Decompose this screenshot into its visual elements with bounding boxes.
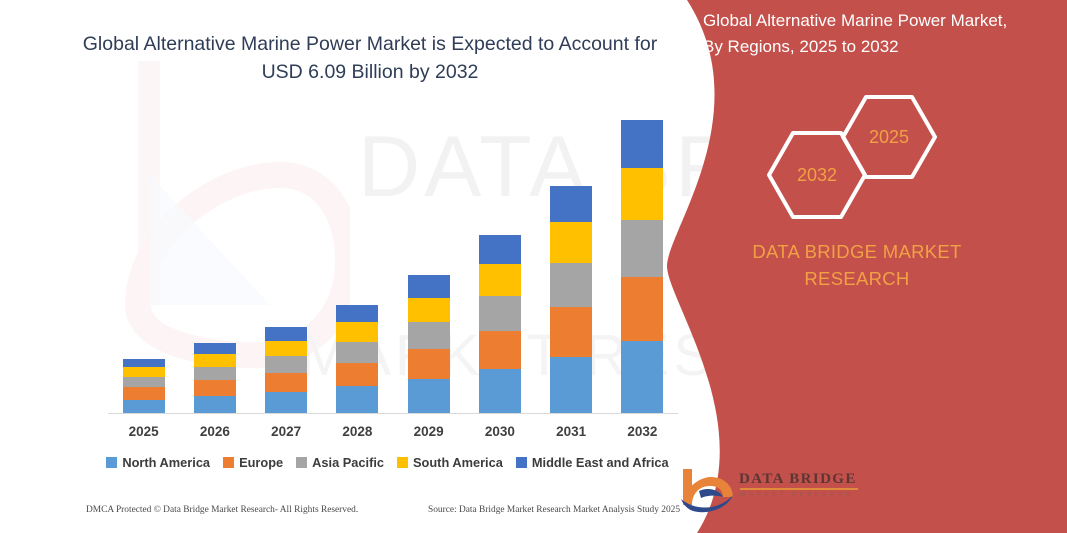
dbmr-logo: DATA BRIDGE MARKET RESEARCH (677, 465, 877, 517)
bar-segment (479, 235, 521, 263)
dbmr-logo-mark (677, 465, 737, 515)
dbmr-logo-divider (740, 488, 858, 490)
bar-stack (479, 235, 521, 414)
hexagon-label-2025: 2025 (869, 127, 909, 148)
chart-title: Global Alternative Marine Power Market i… (60, 30, 680, 86)
legend-swatch-icon (516, 457, 527, 468)
bar-segment (194, 354, 236, 367)
dbmr-logo-title: DATA BRIDGE (739, 471, 857, 488)
legend-swatch-icon (296, 457, 307, 468)
bar-stack (550, 186, 592, 414)
bar-segment (550, 222, 592, 263)
brand-panel: Global Alternative Marine Power Market, … (667, 0, 1067, 533)
footer-copyright: DMCA Protected © Data Bridge Market Rese… (86, 505, 358, 515)
bar-segment (621, 220, 663, 277)
legend-item[interactable]: Middle East and Africa (516, 455, 669, 470)
x-tick-2025: 2025 (114, 424, 174, 439)
bar-segment (265, 392, 307, 414)
bar-segment (265, 341, 307, 356)
legend-label: Asia Pacific (312, 455, 384, 470)
legend-label: Europe (239, 455, 283, 470)
bar-segment (621, 168, 663, 220)
brand-line-2: RESEARCH (804, 268, 909, 289)
bar-segment (336, 342, 378, 363)
bar-segment (479, 264, 521, 296)
legend-label: South America (413, 455, 503, 470)
x-tick-2030: 2030 (470, 424, 530, 439)
legend-label: North America (122, 455, 210, 470)
chart-legend: North AmericaEuropeAsia PacificSouth Ame… (100, 455, 675, 470)
bar-segment (194, 380, 236, 395)
bar-segment (123, 367, 165, 377)
legend-swatch-icon (397, 457, 408, 468)
bar-segment (265, 373, 307, 392)
bar-stack (265, 327, 307, 414)
dbmr-logo-subtitle: MARKET RESEARCH (740, 491, 854, 498)
panel-title: Global Alternative Marine Power Market, … (703, 8, 1013, 60)
x-axis-line (108, 413, 678, 414)
x-tick-2027: 2027 (256, 424, 316, 439)
hexagon-badge-2032: 2032 (765, 128, 869, 222)
bar-segment (479, 296, 521, 331)
hexagon-label-2032: 2032 (797, 165, 837, 186)
bar-segment (123, 377, 165, 388)
bar-segment (194, 396, 236, 414)
bar-segment (123, 359, 165, 368)
bar-stack (123, 359, 165, 414)
bar-segment (336, 305, 378, 322)
bar-stack (194, 343, 236, 414)
bar-segment (408, 379, 450, 414)
bar-segment (408, 349, 450, 379)
bar-segment (621, 277, 663, 340)
legend-label: Middle East and Africa (532, 455, 669, 470)
bar-segment (265, 356, 307, 373)
x-tick-2029: 2029 (399, 424, 459, 439)
legend-item[interactable]: Europe (223, 455, 283, 470)
footer-source: Source: Data Bridge Market Research Mark… (428, 505, 680, 515)
brand-name: DATA BRIDGE MARKET RESEARCH (707, 238, 1007, 292)
bar-stack (336, 305, 378, 414)
bar-segment (550, 263, 592, 307)
bar-stack (408, 275, 450, 414)
bar-segment (550, 357, 592, 414)
bar-segment (621, 120, 663, 168)
bar-segment (550, 186, 592, 223)
bar-segment (123, 387, 165, 399)
x-tick-2032: 2032 (612, 424, 672, 439)
chart-panel: DATA BRIDGE MARKET RESEARCH Global Alter… (0, 0, 760, 533)
bar-segment (479, 369, 521, 414)
bar-segment (336, 322, 378, 341)
x-tick-2031: 2031 (541, 424, 601, 439)
bar-segment (265, 327, 307, 341)
legend-swatch-icon (223, 457, 234, 468)
x-tick-2028: 2028 (327, 424, 387, 439)
bar-segment (123, 400, 165, 414)
bar-segment (408, 275, 450, 297)
bar-chart-plot (108, 120, 678, 414)
legend-item[interactable]: North America (106, 455, 210, 470)
x-tick-2026: 2026 (185, 424, 245, 439)
legend-swatch-icon (106, 457, 117, 468)
bar-segment (194, 367, 236, 381)
brand-line-1: DATA BRIDGE MARKET (752, 241, 961, 262)
bar-segment (336, 386, 378, 414)
bar-segment (408, 322, 450, 349)
bar-segment (550, 307, 592, 356)
bar-segment (336, 363, 378, 387)
legend-item[interactable]: South America (397, 455, 503, 470)
x-axis-labels: 20252026202720282029203020312032 (108, 424, 678, 446)
legend-item[interactable]: Asia Pacific (296, 455, 384, 470)
bar-segment (408, 298, 450, 323)
bar-stack (621, 120, 663, 414)
bar-segment (194, 343, 236, 354)
bar-segment (479, 331, 521, 370)
bar-segment (621, 341, 663, 414)
